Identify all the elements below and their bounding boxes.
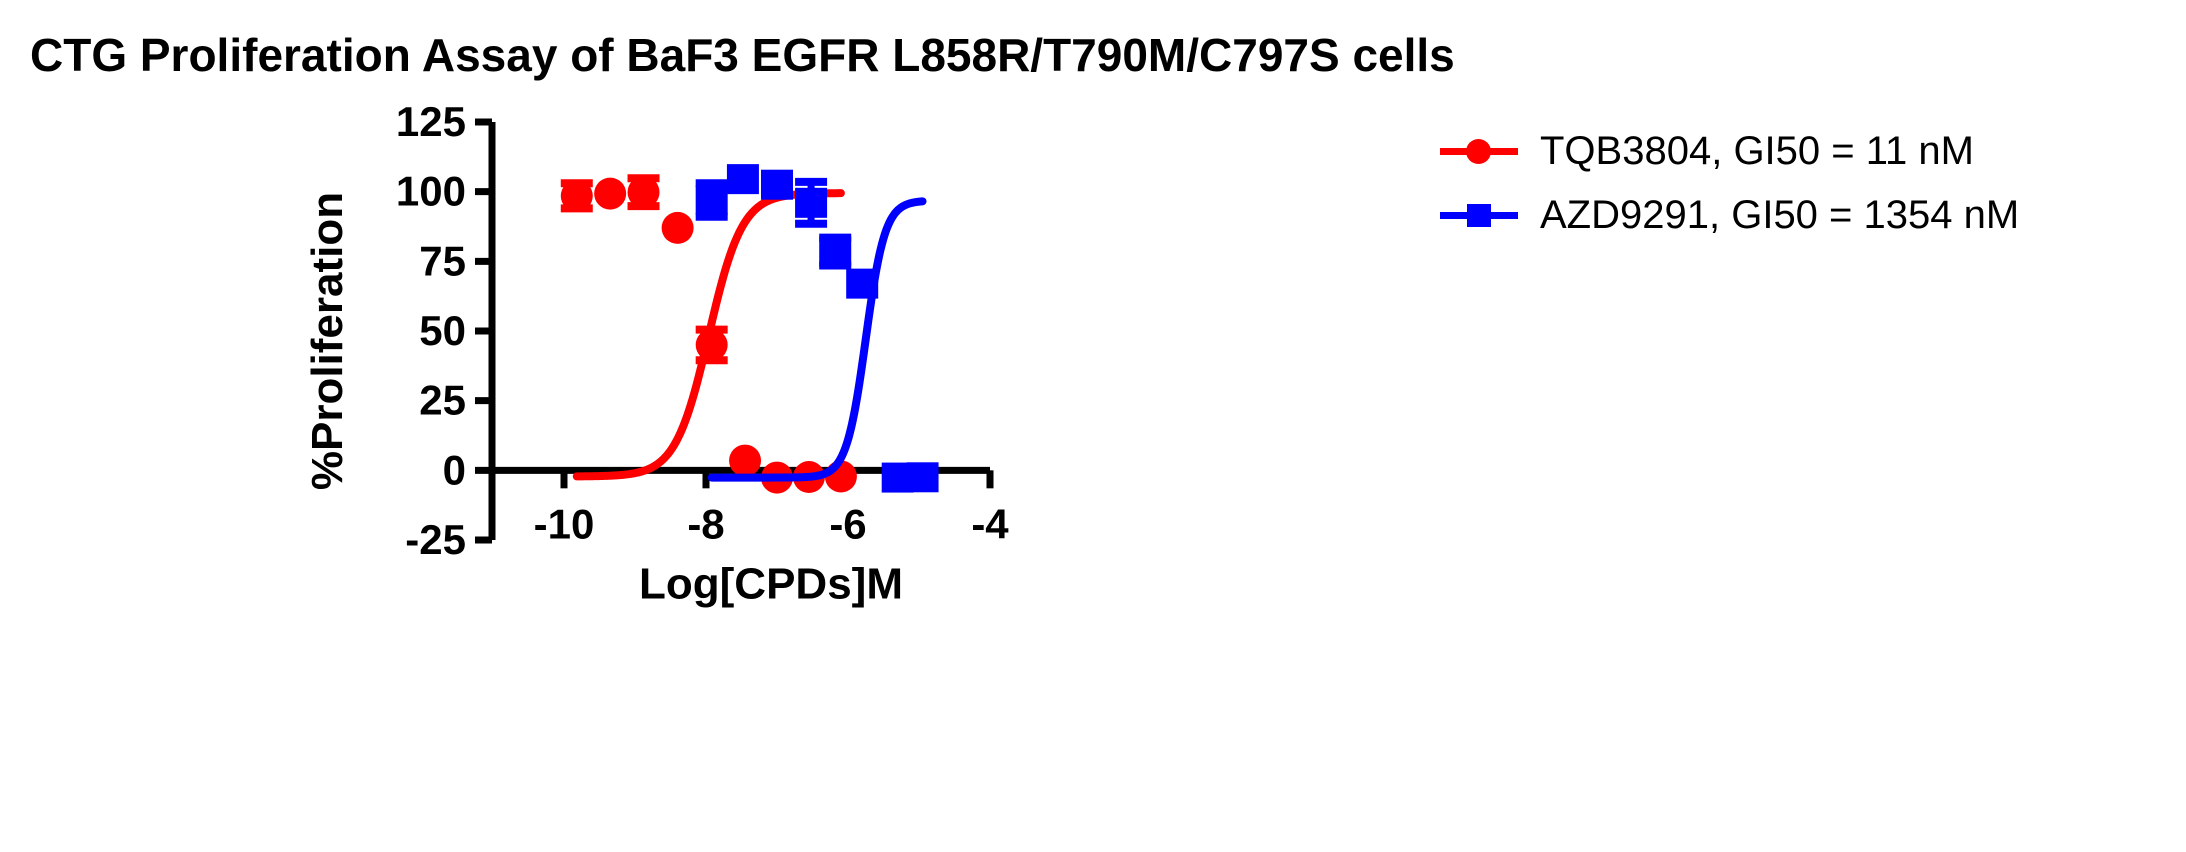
data-point[interactable] [662, 212, 694, 244]
y-axis-title: %Proliferation [303, 192, 352, 490]
y-axis-tick-label: 50 [419, 307, 466, 354]
x-axis-tick-label: -4 [971, 500, 1009, 547]
x-axis-tick-label: -8 [687, 500, 724, 547]
y-axis-tick-label: 100 [396, 168, 466, 215]
chart-legend: TQB3804, GI50 = 11 nM AZD9291, GI50 = 13… [1440, 128, 2019, 238]
data-point[interactable] [846, 269, 878, 299]
y-axis-tick-label: 125 [396, 98, 466, 145]
y-axis-tick-label: 75 [419, 237, 466, 284]
data-point[interactable] [561, 180, 593, 212]
x-axis-tick-label: -10 [534, 500, 595, 547]
legend-item-azd9291[interactable]: AZD9291, GI50 = 1354 nM [1440, 192, 2019, 238]
legend-label-azd9291: AZD9291, GI50 = 1354 nM [1540, 193, 2019, 238]
x-axis-tick-label: -6 [829, 500, 866, 547]
data-point[interactable] [819, 237, 851, 267]
data-point[interactable] [696, 185, 728, 215]
data-point[interactable] [795, 188, 827, 218]
data-point[interactable] [907, 462, 939, 492]
data-point[interactable] [761, 170, 793, 200]
legend-key-circle-icon [1440, 131, 1518, 171]
legend-key-square-icon [1440, 195, 1518, 235]
data-point[interactable] [594, 178, 626, 210]
legend-label-tqb3804: TQB3804, GI50 = 11 nM [1540, 129, 1974, 174]
data-point[interactable] [729, 445, 761, 477]
y-axis-tick-label: 25 [419, 377, 466, 424]
chart-figure: CTG Proliferation Assay of BaF3 EGFR L85… [0, 0, 2186, 852]
y-axis-tick-label: 0 [443, 446, 466, 493]
x-axis-title: Log[CPDs]M [639, 559, 903, 608]
y-axis-tick-label: -25 [405, 516, 466, 563]
data-point[interactable] [628, 176, 660, 208]
legend-item-tqb3804[interactable]: TQB3804, GI50 = 11 nM [1440, 128, 2019, 174]
data-point[interactable] [696, 329, 728, 361]
series-curve [712, 201, 923, 477]
data-point[interactable] [727, 164, 759, 194]
